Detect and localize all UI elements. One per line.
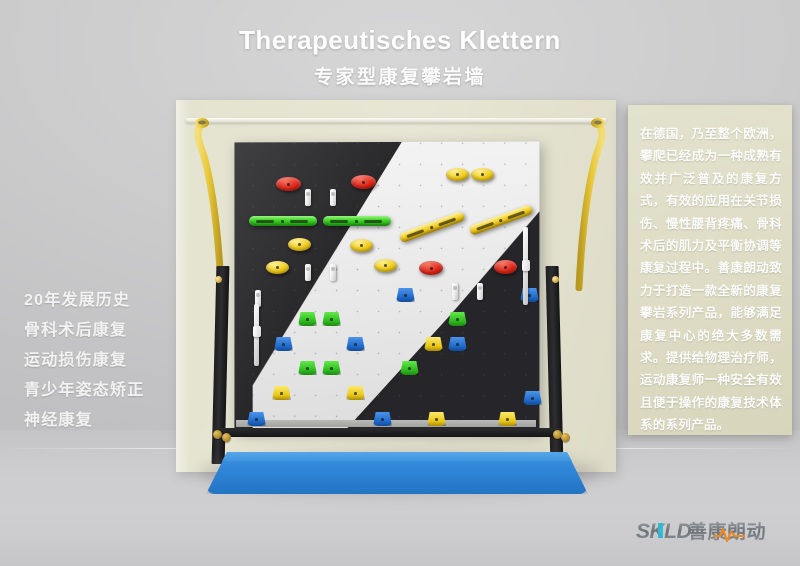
hold-disc-yellow[interactable] xyxy=(374,259,397,272)
hold-disc-red[interactable] xyxy=(494,260,517,274)
hold-peg-white[interactable] xyxy=(330,264,336,281)
hold-slider-rail[interactable] xyxy=(254,304,259,366)
hold-jug-yellow[interactable] xyxy=(424,337,443,351)
hold-peg-white[interactable] xyxy=(477,283,483,300)
hold-jug-yellow[interactable] xyxy=(272,386,291,400)
hold-slider-rail[interactable] xyxy=(523,227,528,305)
hold-disc-yellow[interactable] xyxy=(446,168,469,181)
list-item: 运动损伤康复 xyxy=(24,346,194,376)
list-item: 骨科术后康复 xyxy=(24,316,194,346)
hold-disc-red[interactable] xyxy=(351,175,376,189)
hold-jug-blue[interactable] xyxy=(274,337,293,351)
page-title: Therapeutisches Klettern xyxy=(0,25,800,56)
hold-jug-blue[interactable] xyxy=(373,412,392,426)
hold-jug-blue[interactable] xyxy=(396,288,415,302)
hold-jug-green[interactable] xyxy=(322,312,341,326)
base-bolt xyxy=(213,430,222,439)
hold-jug-blue[interactable] xyxy=(247,412,266,426)
hold-peg-white[interactable] xyxy=(305,189,311,206)
hold-rail-green[interactable] xyxy=(323,216,391,226)
brand-logo[interactable]: SKLD 善康朗动 xyxy=(636,517,786,547)
hold-jug-blue[interactable] xyxy=(346,337,365,351)
hold-jug-green[interactable] xyxy=(298,312,317,326)
hold-jug-yellow[interactable] xyxy=(498,412,517,426)
list-item: 20年发展历史 xyxy=(24,286,194,316)
hold-disc-red[interactable] xyxy=(276,177,301,191)
hold-jug-green[interactable] xyxy=(448,312,467,326)
hold-disc-yellow[interactable] xyxy=(350,239,373,252)
hold-jug-green[interactable] xyxy=(298,361,317,375)
hold-jug-yellow[interactable] xyxy=(427,412,446,426)
hold-disc-yellow[interactable] xyxy=(471,168,494,181)
hold-disc-red[interactable] xyxy=(419,261,443,275)
hold-disc-yellow[interactable] xyxy=(266,261,289,274)
pivot-bolt xyxy=(215,276,222,283)
list-item: 青少年姿态矫正 xyxy=(24,376,194,406)
slider-knob[interactable] xyxy=(522,260,530,271)
svg-text:SKLD: SKLD xyxy=(636,520,692,543)
poster-canvas: Therapeutisches Klettern 专家型康复攀岩墙 20年发展历… xyxy=(0,0,800,566)
frame-base-bar xyxy=(214,428,561,437)
base-bolt xyxy=(222,433,231,442)
hold-rail-green[interactable] xyxy=(249,216,317,226)
base-bolt xyxy=(561,433,570,442)
hold-disc-yellow[interactable] xyxy=(288,238,311,251)
description-text: 在德国，乃至整个欧洲，攀爬已经成为一种成熟有效并广泛普及的康复方式，有效的应用在… xyxy=(640,123,782,437)
support-arm-right xyxy=(548,116,608,291)
slider-knob[interactable] xyxy=(253,326,261,337)
hold-jug-blue[interactable] xyxy=(448,337,467,351)
hold-jug-blue[interactable] xyxy=(523,391,542,405)
hold-jug-green[interactable] xyxy=(400,361,419,375)
pivot-bolt xyxy=(552,276,559,283)
hold-peg-white[interactable] xyxy=(330,189,336,206)
safety-mat-top-face xyxy=(206,452,588,461)
hold-peg-white[interactable] xyxy=(452,283,458,300)
list-item: 神经康复 xyxy=(24,406,194,436)
feature-list: 20年发展历史 骨科术后康复 运动损伤康复 青少年姿态矫正 神经康复 xyxy=(24,286,194,436)
hold-peg-white[interactable] xyxy=(305,264,311,281)
hold-jug-yellow[interactable] xyxy=(346,386,365,400)
hold-jug-green[interactable] xyxy=(322,361,341,375)
page-subtitle: 专家型康复攀岩墙 xyxy=(0,62,800,89)
back-wall-highlight xyxy=(176,100,190,472)
